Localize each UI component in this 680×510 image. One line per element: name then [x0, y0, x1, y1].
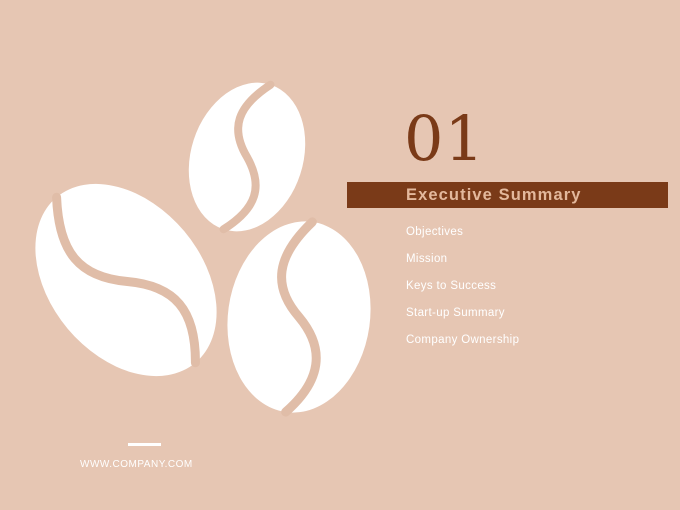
section-title: Executive Summary — [406, 182, 668, 208]
coffee-beans-illustration — [0, 0, 400, 440]
coffee-bean-top — [170, 67, 323, 246]
section-number: 01 — [404, 108, 485, 170]
coffee-bean-right — [215, 212, 382, 422]
agenda-item-objectives[interactable]: Objectives — [406, 226, 519, 239]
agenda-list: Objectives Mission Keys to Success Start… — [406, 226, 519, 361]
footer-divider-rule — [128, 443, 161, 446]
agenda-item-company-ownership[interactable]: Company Ownership — [406, 334, 519, 347]
agenda-item-start-up-summary[interactable]: Start-up Summary — [406, 307, 519, 320]
presentation-slide: 01 Executive Summary Objectives Mission … — [0, 0, 680, 510]
agenda-item-keys-to-success[interactable]: Keys to Success — [406, 280, 519, 293]
footer-website-url[interactable]: WWW.COMPANY.COM — [80, 459, 193, 471]
agenda-item-mission[interactable]: Mission — [406, 253, 519, 266]
